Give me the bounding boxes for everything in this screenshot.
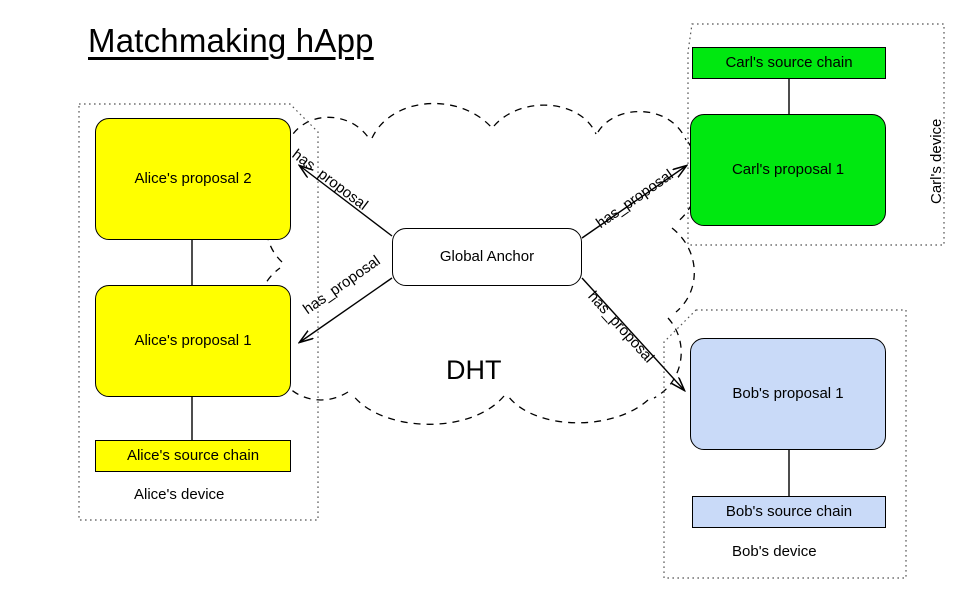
bob-proposal-1-label: Bob's proposal 1 [732,385,843,403]
alice-proposal-1-label: Alice's proposal 1 [134,332,251,350]
bob-source-chain-node[interactable]: Bob's source chain [692,496,886,528]
global-anchor-label: Global Anchor [440,248,534,266]
alice-source-chain-label: Alice's source chain [127,447,259,465]
carl-proposal-1-node[interactable]: Carl's proposal 1 [690,114,886,226]
dht-label: DHT [446,355,502,386]
bob-proposal-1-node[interactable]: Bob's proposal 1 [690,338,886,450]
carl-device-label: Carl's device [928,119,945,204]
alice-source-chain-node[interactable]: Alice's source chain [95,440,291,472]
carl-source-chain-node[interactable]: Carl's source chain [692,47,886,79]
alice-proposal-1-node[interactable]: Alice's proposal 1 [95,285,291,397]
alice-proposal-2-node[interactable]: Alice's proposal 2 [95,118,291,240]
alice-device-label: Alice's device [134,486,224,503]
page-title: Matchmaking hApp [88,22,374,60]
carl-source-chain-label: Carl's source chain [725,54,852,72]
bob-source-chain-label: Bob's source chain [726,503,852,521]
global-anchor-node[interactable]: Global Anchor [392,228,582,286]
bob-device-label: Bob's device [732,543,817,560]
diagram-canvas: Matchmaking hApp DHT Global Anchor Alice… [0,0,957,594]
carl-proposal-1-label: Carl's proposal 1 [732,161,844,179]
alice-proposal-2-label: Alice's proposal 2 [134,170,251,188]
